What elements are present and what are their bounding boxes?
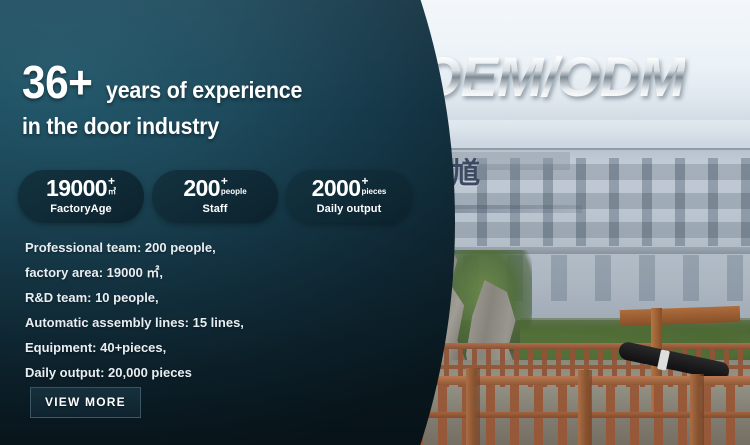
- detail-line: Daily output: 20,000 pieces: [25, 361, 244, 386]
- railing-post: [690, 374, 704, 445]
- stat-label: Staff: [167, 203, 263, 215]
- headline-years-number: 36+: [22, 58, 92, 107]
- stat-value: 19000: [46, 177, 107, 200]
- stat-affix: + people: [221, 177, 247, 196]
- stat-value: 2000: [312, 177, 361, 200]
- railing-back-toprail: [430, 343, 750, 349]
- oem-odm-title: OEM/ODM: [418, 44, 685, 109]
- detail-line: Professional team: 200 people,: [25, 236, 244, 261]
- detail-line: R&D team: 10 people,: [25, 286, 244, 311]
- detail-line: factory area: 19000 ㎡,: [25, 261, 244, 286]
- stat-affix: + ㎡: [108, 177, 116, 196]
- railing-post: [466, 368, 480, 445]
- headline: 36+ years of experience in the door indu…: [22, 58, 352, 138]
- stat-badges: 19000 + ㎡ FactoryAge 200 + people Staff …: [18, 170, 412, 223]
- headline-years-text: years of experience: [106, 78, 302, 102]
- stat-plus: +: [108, 175, 115, 187]
- stat-unit: pieces: [361, 188, 386, 196]
- headline-row-2: in the door industry: [22, 114, 329, 138]
- stat-affix: + pieces: [361, 177, 386, 196]
- stat-label: FactoryAge: [33, 203, 129, 215]
- stat-label: Daily output: [301, 203, 397, 215]
- stat-value-group: 19000 + ㎡: [33, 177, 129, 200]
- stat-unit: ㎡: [108, 188, 116, 196]
- stat-unit: people: [221, 188, 247, 196]
- detail-line: Automatic assembly lines: 15 lines,: [25, 311, 244, 336]
- stat-value-group: 2000 + pieces: [301, 177, 397, 200]
- stat-badge-factory-area[interactable]: 19000 + ㎡ FactoryAge: [18, 170, 144, 223]
- detail-line: Equipment: 40+pieces,: [25, 336, 244, 361]
- stat-plus: +: [221, 175, 228, 187]
- company-details-list: Professional team: 200 people, factory a…: [25, 236, 244, 386]
- stat-plus: +: [361, 175, 368, 187]
- stat-badge-staff[interactable]: 200 + people Staff: [152, 170, 278, 223]
- stat-value-group: 200 + people: [167, 177, 263, 200]
- view-more-button[interactable]: VIEW MORE: [30, 387, 141, 418]
- railing-post: [578, 370, 592, 445]
- headline-row-1: 36+ years of experience: [22, 58, 352, 107]
- promo-banner: 钟馗 OEM/ODM 36+ years of experience in: [0, 0, 750, 445]
- stat-value: 200: [183, 177, 220, 200]
- stat-badge-daily-output[interactable]: 2000 + pieces Daily output: [286, 170, 412, 223]
